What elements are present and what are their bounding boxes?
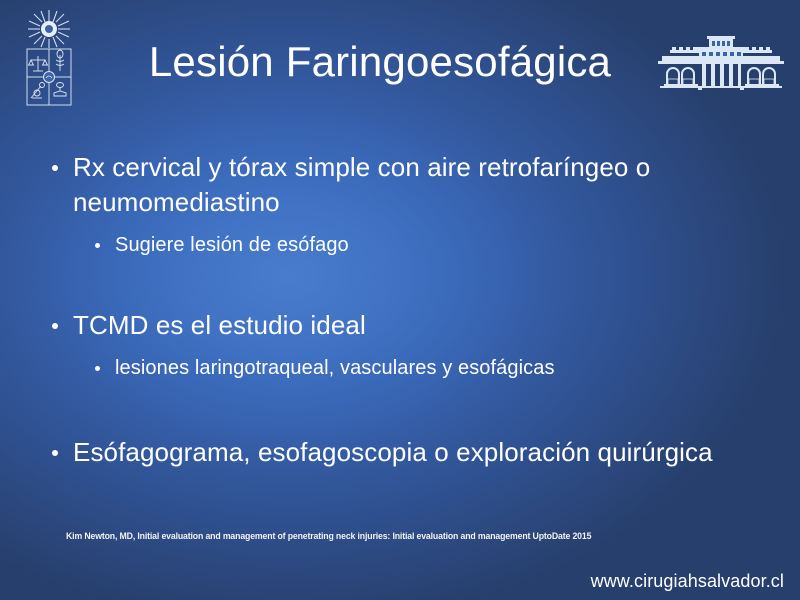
- page-title: Lesión Faringoesofágica: [100, 36, 660, 88]
- bullet-item-level1: TCMD es el estudio ideal: [0, 308, 800, 343]
- bullet-dot-icon: [95, 366, 100, 371]
- bullet-text: TCMD es el estudio ideal: [73, 310, 366, 340]
- universidad-de-chile-crest-icon: [18, 8, 80, 112]
- bullet-dot-icon: [52, 323, 58, 329]
- bullet-dot-icon: [95, 243, 100, 248]
- spacer: [0, 260, 800, 308]
- bullet-group-2: TCMD es el estudio ideal lesiones laring…: [0, 308, 800, 383]
- bullet-item-level2: Sugiere lesión de esófago: [0, 230, 800, 260]
- bullet-text: Esófagograma, esofagoscopia o exploració…: [73, 437, 713, 467]
- hospital-salvador-building-icon: [652, 32, 790, 94]
- bullet-text: Rx cervical y tórax simple con aire retr…: [73, 152, 650, 217]
- bullet-group-1: Rx cervical y tórax simple con aire retr…: [0, 150, 800, 260]
- presentation-slide: Lesión Faringoesofágica: [0, 0, 800, 600]
- bullet-dot-icon: [52, 450, 58, 456]
- spacer: [0, 220, 800, 230]
- bullet-text: Sugiere lesión de esófago: [115, 234, 349, 256]
- bullet-item-level1: Esófagograma, esofagoscopia o exploració…: [0, 435, 800, 470]
- spacer: [0, 383, 800, 435]
- bullet-item-level1: Rx cervical y tórax simple con aire retr…: [0, 150, 800, 220]
- spacer: [0, 343, 800, 353]
- bullet-item-level2: lesiones laringotraqueal, vasculares y e…: [0, 353, 800, 383]
- bullet-text: lesiones laringotraqueal, vasculares y e…: [115, 357, 555, 379]
- source-citation: Kim Newton, MD, Initial evaluation and m…: [66, 530, 745, 542]
- bullet-dot-icon: [52, 165, 58, 171]
- footer-website-url: www.cirugiahsalvador.cl: [591, 570, 784, 592]
- slide-body: Rx cervical y tórax simple con aire retr…: [0, 150, 800, 470]
- bullet-group-3: Esófagograma, esofagoscopia o exploració…: [0, 435, 800, 470]
